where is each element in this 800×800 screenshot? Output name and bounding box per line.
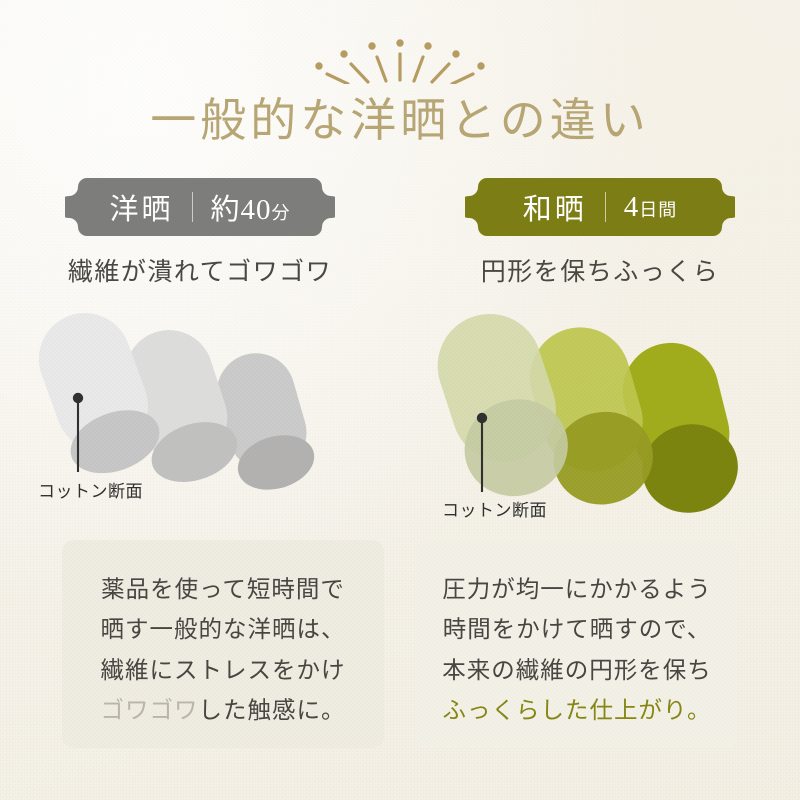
note-line-emphasis: ゴワゴワした触感に。 [62,691,384,731]
badge-label-wazarashi: 和晒 [523,186,605,228]
badge-duration-unit: 分 [272,199,291,225]
badge-duration-wazarashi: 4 日間 [606,191,678,224]
sunburst-decoration [0,18,800,84]
note-box-wazarashi: 圧力が均一にかかるよう 時間をかけて晒すので、 本来の繊維の円形を保ち ふっくら… [416,540,738,748]
note-box-yozarashi: 薬品を使って短時間で 晒す一般的な洋晒は、 繊維にストレスをかけ ゴワゴワした触… [62,540,384,748]
comparison-columns: 洋晒 約40 分 繊維が潰れてゴワゴワ [0,176,800,524]
note-line-suffix: した触感に。 [199,698,346,724]
page-title: 一般的な洋晒との違い [0,84,800,150]
badge-duration-value: 4 [624,191,640,224]
note-muted-text: ゴワゴワ [101,698,199,724]
page-background: 一般的な洋晒との違い 洋晒 約40 分 繊維が潰れてゴワゴワ [0,0,800,800]
badge-duration-unit: 日間 [639,196,677,222]
note-line: 圧力が均一にかかるよう [416,570,738,610]
badge-yozarashi: 洋晒 約40 分 [65,176,335,238]
badge-duration-yozarashi: 約40 分 [193,186,291,228]
illustration-plump-fibers: コットン断面 [430,294,770,524]
note-line: 繊維にストレスをかけ [62,651,384,691]
illustration-collapsed-fibers: コットン断面 [30,294,370,524]
badge-wazarashi: 和晒 4 日間 [465,176,735,238]
note-boxes: 薬品を使って短時間で 晒す一般的な洋晒は、 繊維にストレスをかけ ゴワゴワした触… [0,540,800,748]
callout-label-left: コットン断面 [38,482,143,501]
subtitle-wazarashi: 円形を保ちふっくら [481,252,720,288]
note-line: 薬品を使って短時間で [62,570,384,610]
column-wazarashi: 和晒 4 日間 円形を保ちふっくら [400,176,800,524]
note-line: 時間をかけて晒すので、 [416,610,738,650]
badge-label-yozarashi: 洋晒 [109,186,191,228]
callout-label-right: コットン断面 [442,501,547,520]
note-line-highlight: ふっくらした仕上がり。 [416,691,738,731]
column-yozarashi: 洋晒 約40 分 繊維が潰れてゴワゴワ [0,176,400,524]
badge-duration-value: 約40 [211,186,272,228]
note-line: 晒す一般的な洋晒は、 [62,610,384,650]
subtitle-yozarashi: 繊維が潰れてゴワゴワ [68,252,332,288]
note-line: 本来の繊維の円形を保ち [416,651,738,691]
